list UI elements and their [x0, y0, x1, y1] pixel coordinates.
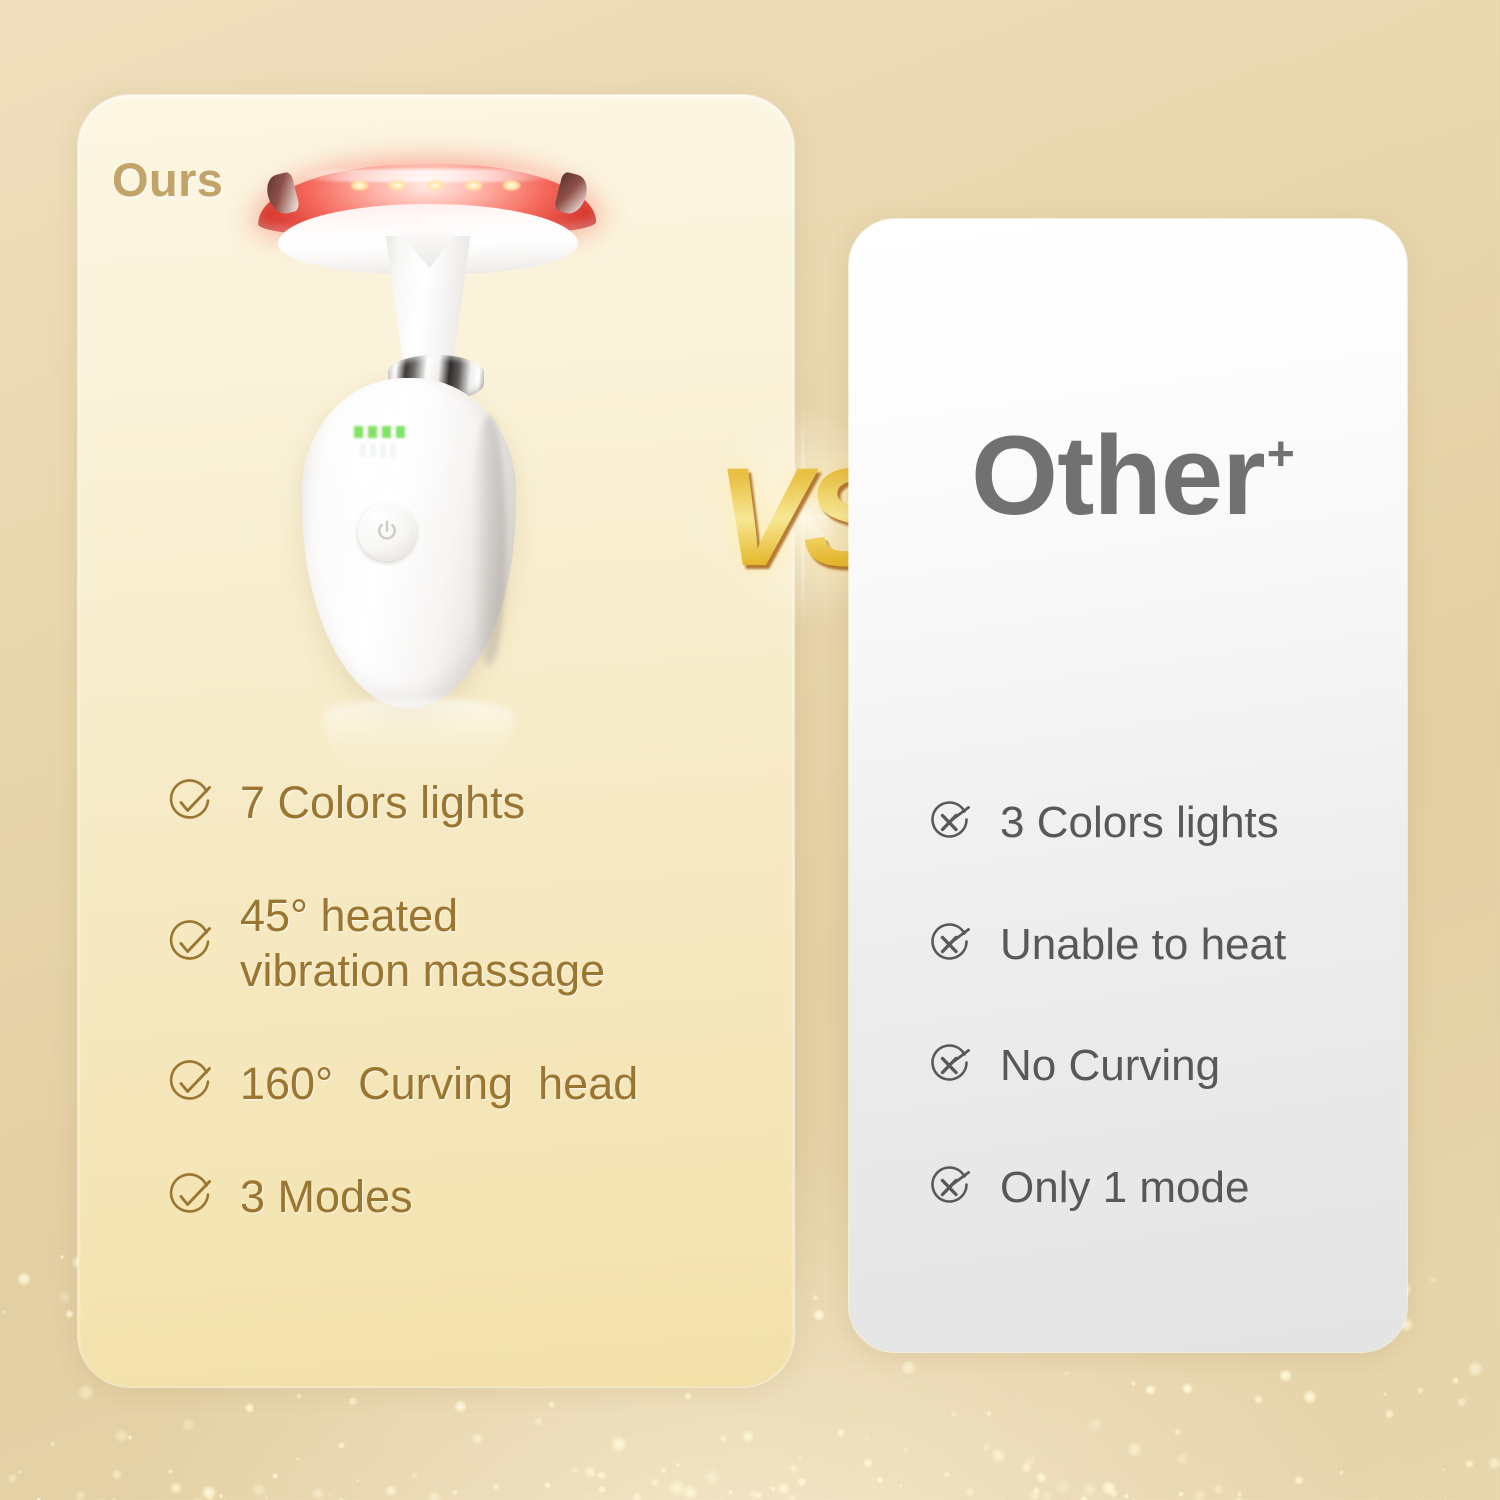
list-item: 3 Colors lights	[926, 796, 1366, 850]
other-label-superscript: +	[1267, 428, 1294, 481]
product-image-ours-device	[262, 150, 592, 710]
device-led-2	[388, 180, 407, 191]
list-item: Unable to heat	[926, 918, 1366, 972]
device-power-button[interactable]	[358, 503, 416, 561]
check-circle-icon	[166, 1060, 214, 1108]
list-item-label: Unable to heat	[1000, 918, 1286, 972]
ours-feature-list: 7 Colors lights 45° heated vibration mas…	[166, 776, 766, 1224]
device-led-3	[426, 180, 445, 191]
other-feature-list: 3 Colors lights Unable to heat	[926, 796, 1366, 1215]
list-item: 45° heated vibration massage	[166, 889, 766, 999]
device-led-5	[502, 180, 521, 191]
device-display-segments	[354, 426, 410, 438]
device-display-subtext	[360, 443, 396, 458]
list-item-label: Only 1 mode	[1000, 1161, 1249, 1215]
list-item-label: 3 Colors lights	[1000, 796, 1279, 850]
list-item: No Curving	[926, 1039, 1366, 1093]
check-circle-icon	[166, 920, 214, 968]
list-item-label: 7 Colors lights	[240, 776, 525, 831]
device-led-1	[350, 180, 369, 191]
list-item: 7 Colors lights	[166, 776, 766, 831]
device-head-gloss	[296, 169, 558, 182]
list-item: 160° Curving head	[166, 1057, 766, 1112]
x-circle-icon	[926, 799, 974, 847]
comparison-infographic: Ours	[0, 0, 1500, 1500]
other-label-text: Other	[971, 413, 1265, 538]
x-circle-icon	[926, 1042, 974, 1090]
x-circle-icon	[926, 1164, 974, 1212]
check-circle-icon	[166, 779, 214, 827]
device-body-rim	[472, 416, 506, 666]
other-label: Other+	[971, 420, 1292, 532]
list-item-label: 3 Modes	[240, 1170, 413, 1225]
list-item: Only 1 mode	[926, 1161, 1366, 1215]
x-circle-icon	[926, 921, 974, 969]
device-led-4	[464, 180, 483, 191]
check-circle-icon	[166, 1173, 214, 1221]
list-item-label: No Curving	[1000, 1039, 1220, 1093]
power-icon	[373, 518, 401, 546]
list-item-label: 45° heated vibration massage	[240, 889, 605, 999]
list-item-label: 160° Curving head	[240, 1057, 638, 1112]
ours-label: Ours	[112, 152, 223, 207]
device-led-display	[348, 424, 418, 464]
list-item: 3 Modes	[166, 1170, 766, 1225]
